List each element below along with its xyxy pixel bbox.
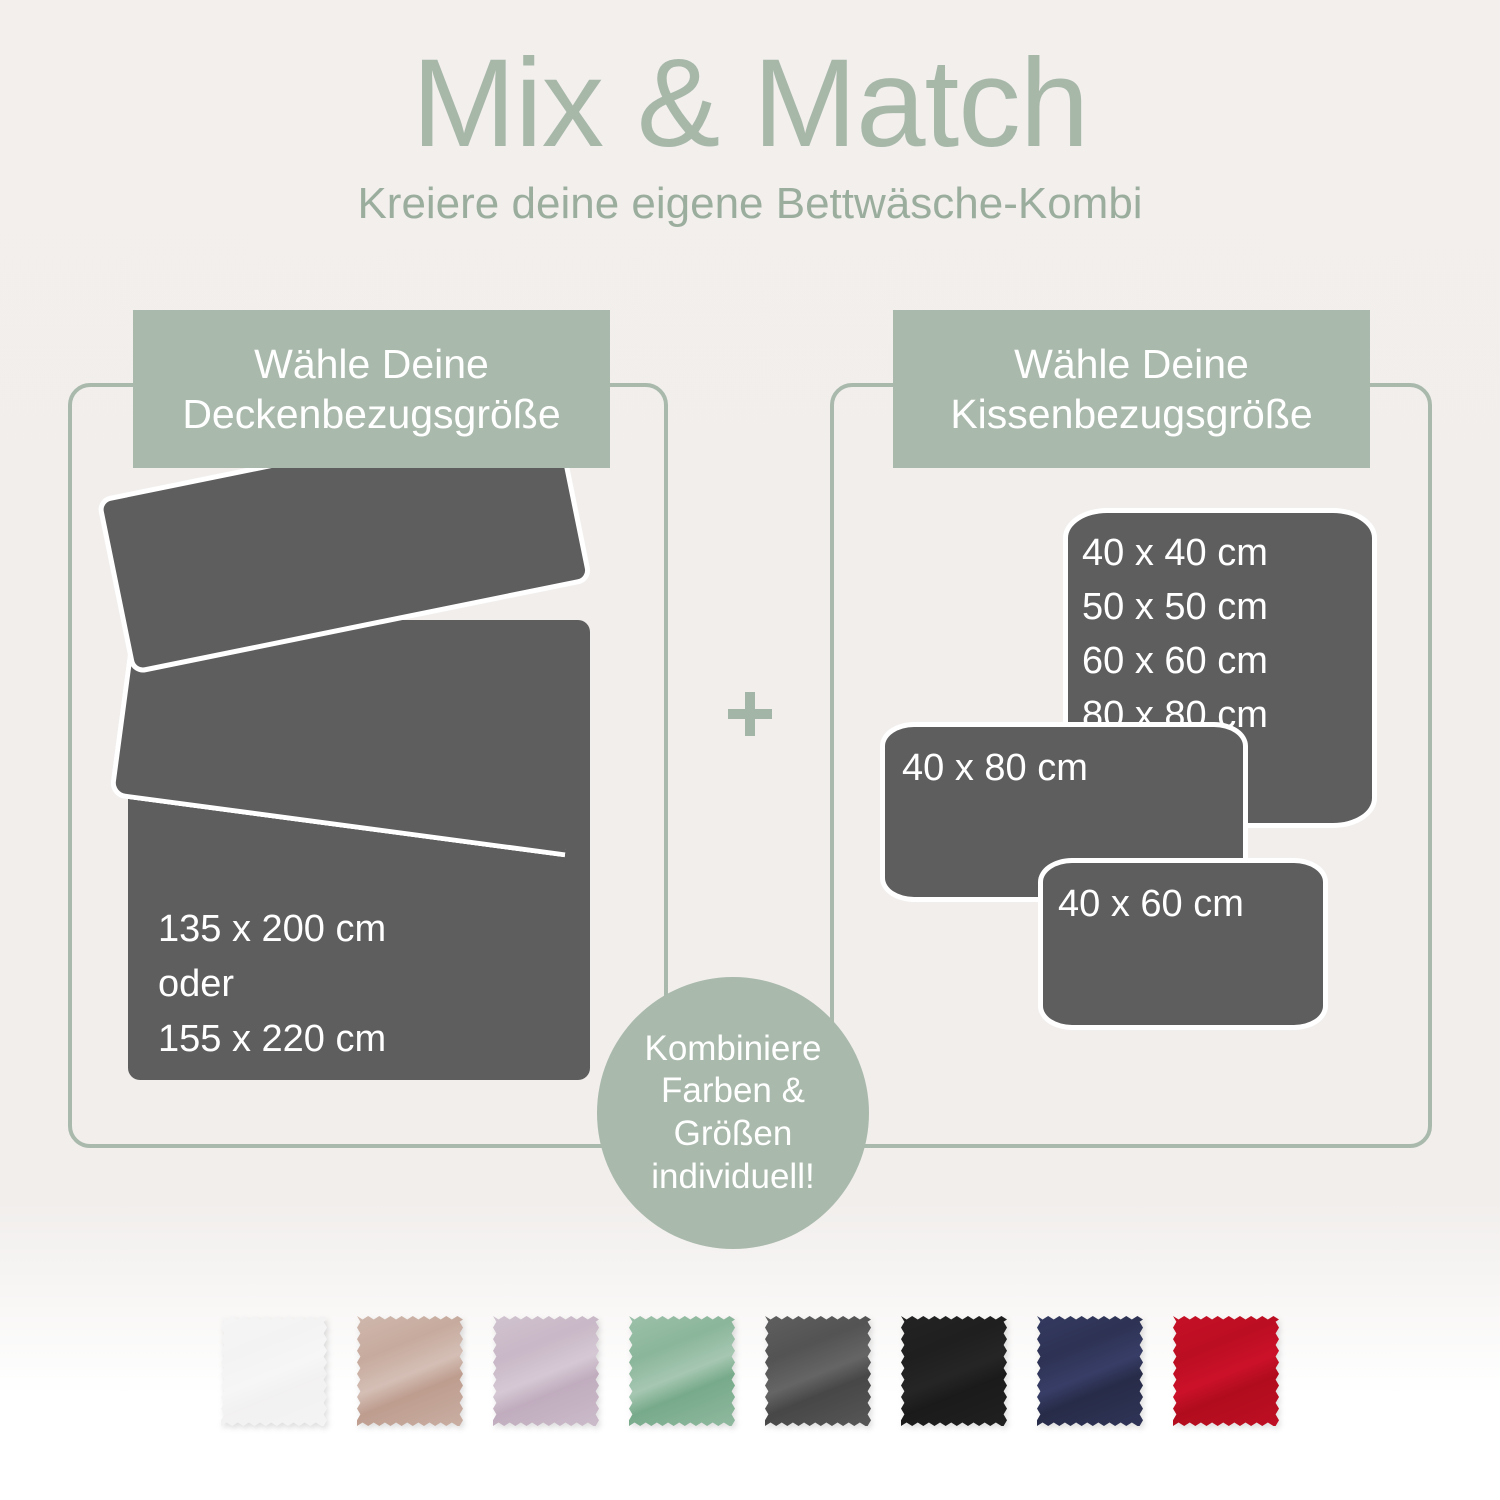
pillow-40x60-size-label: 40 x 60 cm bbox=[1058, 878, 1244, 932]
swatch-fabric bbox=[493, 1316, 599, 1426]
color-swatch-row bbox=[0, 1316, 1500, 1426]
swatch-sheen bbox=[221, 1316, 327, 1426]
swatch-sheen bbox=[1173, 1316, 1279, 1426]
duvet-size-label: 135 x 200 cm oder 155 x 220 cm bbox=[158, 902, 386, 1067]
pillow-40x80-size-label: 40 x 80 cm bbox=[902, 742, 1088, 796]
page-subtitle: Kreiere deine eigene Bettwäsche-Kombi bbox=[0, 180, 1500, 228]
swatch-sheen bbox=[493, 1316, 599, 1426]
color-swatch-sage[interactable] bbox=[629, 1316, 735, 1426]
color-swatch-taupe[interactable] bbox=[357, 1316, 463, 1426]
swatch-fabric bbox=[221, 1316, 327, 1426]
swatch-fabric bbox=[357, 1316, 463, 1426]
color-swatch-navy[interactable] bbox=[1037, 1316, 1143, 1426]
combine-badge: Kombiniere Farben & Größen individuell! bbox=[597, 977, 869, 1249]
swatch-fabric bbox=[901, 1316, 1007, 1426]
square-pillow-size-label: 40 x 40 cm 50 x 50 cm 60 x 60 cm 80 x 80… bbox=[1082, 527, 1268, 743]
color-swatch-white[interactable] bbox=[221, 1316, 327, 1426]
pillow-panel-banner: Wähle Deine Kissenbezugsgröße bbox=[893, 310, 1370, 468]
duvet-cover-illustration: 135 x 200 cm oder 155 x 220 cm bbox=[110, 480, 670, 1100]
swatch-fabric bbox=[629, 1316, 735, 1426]
swatch-fabric bbox=[765, 1316, 871, 1426]
swatch-sheen bbox=[901, 1316, 1007, 1426]
swatch-fabric bbox=[1037, 1316, 1143, 1426]
page-title: Mix & Match bbox=[0, 38, 1500, 169]
color-swatch-red[interactable] bbox=[1173, 1316, 1279, 1426]
plus-icon bbox=[728, 692, 772, 736]
infographic-canvas: Mix & Match Kreiere deine eigene Bettwäs… bbox=[0, 0, 1500, 1500]
swatch-sheen bbox=[629, 1316, 735, 1426]
color-swatch-lilac[interactable] bbox=[493, 1316, 599, 1426]
swatch-sheen bbox=[357, 1316, 463, 1426]
color-swatch-black[interactable] bbox=[901, 1316, 1007, 1426]
duvet-panel-banner: Wähle Deine Deckenbezugsgröße bbox=[133, 310, 610, 468]
swatch-sheen bbox=[1037, 1316, 1143, 1426]
color-swatch-dark-grey[interactable] bbox=[765, 1316, 871, 1426]
swatch-fabric bbox=[1173, 1316, 1279, 1426]
swatch-sheen bbox=[765, 1316, 871, 1426]
